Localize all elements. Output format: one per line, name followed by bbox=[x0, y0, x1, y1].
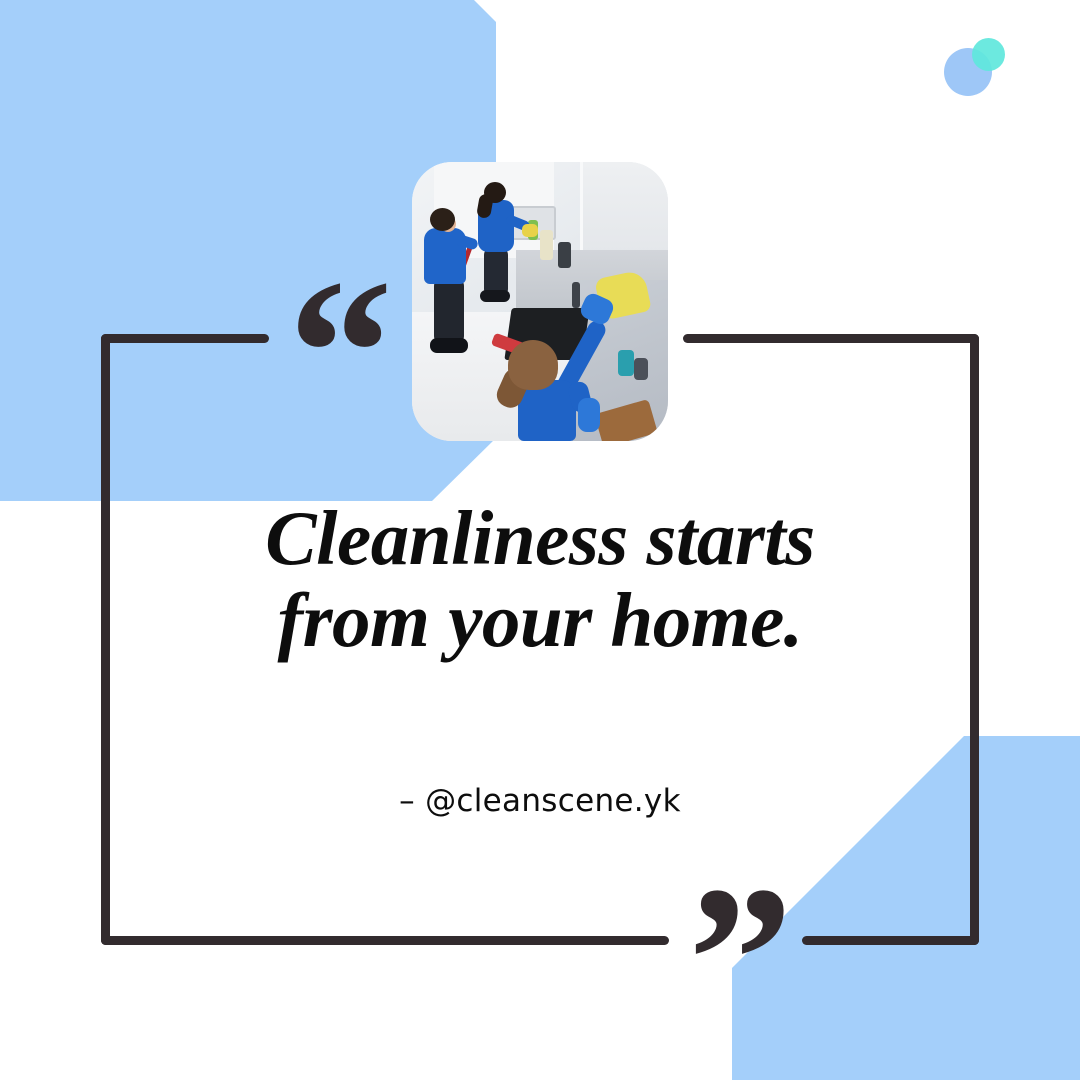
attribution-handle: – @cleanscene.yk bbox=[140, 783, 940, 819]
cleaning-team-photo bbox=[412, 162, 668, 441]
photo-person-a-shoes bbox=[430, 338, 468, 353]
teal-circle-icon bbox=[972, 38, 1005, 71]
photo-person-c-head bbox=[508, 340, 558, 390]
poster-canvas: “ ” bbox=[0, 0, 1080, 1080]
frame-right-segment bbox=[970, 334, 979, 945]
quote-line-2: from your home. bbox=[140, 580, 940, 662]
circle-decoration-group bbox=[944, 38, 1012, 106]
photo-prop-dispenser bbox=[572, 282, 580, 308]
photo-person-a-legs bbox=[434, 278, 464, 344]
frame-top-left-segment bbox=[101, 334, 269, 343]
photo-prop-spray bbox=[618, 350, 634, 376]
photo-person-b-glove bbox=[522, 224, 538, 237]
frame-left-segment bbox=[101, 334, 110, 945]
photo-prop-bottle-dark bbox=[634, 358, 648, 380]
opening-quote-icon: “ bbox=[288, 248, 391, 458]
photo-person-a-head bbox=[430, 208, 455, 231]
photo-person-b-legs bbox=[484, 248, 508, 296]
photo-prop-container bbox=[558, 242, 571, 268]
frame-bottom-right-segment bbox=[802, 936, 979, 945]
quote-line-1: Cleanliness starts bbox=[140, 498, 940, 580]
frame-top-right-segment bbox=[683, 334, 979, 343]
quote-text: Cleanliness starts from your home. bbox=[140, 498, 940, 661]
closing-quote-icon: ” bbox=[688, 855, 791, 1065]
photo-prop-jar bbox=[540, 230, 553, 260]
photo-person-b-head bbox=[484, 182, 506, 203]
frame-bottom-left-segment bbox=[101, 936, 669, 945]
photo-person-c-glove-lower bbox=[578, 398, 600, 432]
photo-scene bbox=[412, 162, 668, 441]
photo-person-b-shoes bbox=[480, 290, 510, 302]
